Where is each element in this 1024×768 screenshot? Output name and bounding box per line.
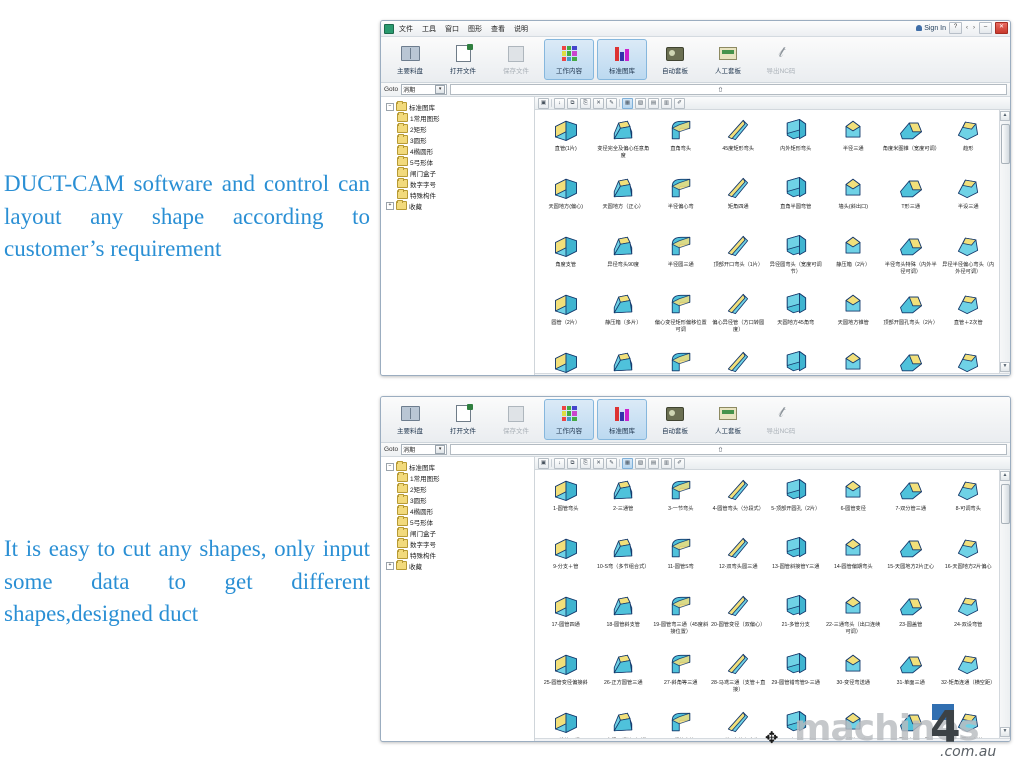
ribbon-button-manual-nest[interactable]: 人工套板 <box>703 39 753 80</box>
folder-icon <box>396 102 407 111</box>
shape-item-label: 31-单面三通 <box>883 680 939 687</box>
shape-library-item[interactable]: 13-圆管斜接管Y三通 <box>767 532 825 590</box>
tree-item[interactable]: 数字字号 <box>384 538 534 549</box>
watermark-domain: .com.au <box>940 744 996 760</box>
shape-library-item[interactable]: 角度米图锥（宽度可调） <box>882 114 940 172</box>
scroll-down-button[interactable]: ▼ <box>1000 362 1010 372</box>
shape-library-item[interactable]: 45度矩形弯头 <box>710 114 768 172</box>
shape-item-label: 顶部开圆孔弯头（2片） <box>883 320 939 327</box>
shape-library-item[interactable]: 静压箱（2片） <box>825 230 883 288</box>
app-logo-icon <box>384 24 394 34</box>
shape-item-label: 内外矩形弯头 <box>768 146 824 153</box>
shape-library-item[interactable]: 9-分支＋管 <box>537 532 595 590</box>
shape-icon-grid-bottom[interactable]: 1-圆管弯头2-三通管3-一节弯头4-圆管弯头（分段式）5-顶部开圆孔（2片）6… <box>535 470 999 738</box>
shape-library-item[interactable]: 24-双设弯管 <box>940 590 998 648</box>
tree-label: 4椭圆形 <box>410 506 433 516</box>
shape-library-item[interactable]: 斜圆方箱 <box>940 346 998 373</box>
save-icon <box>508 45 524 63</box>
duct-shape-icon <box>666 650 696 678</box>
goto-combo[interactable]: 消期 ▾ <box>401 444 447 455</box>
folder-icon <box>397 113 408 122</box>
tree-item[interactable]: 1常用图形 <box>384 112 534 123</box>
panel-icon <box>719 405 737 423</box>
shape-library-item[interactable]: 圆管（2片） <box>537 288 595 346</box>
j-icon: 𝓉 <box>778 45 783 63</box>
ribbon-button-work-content[interactable]: 工作内容 <box>544 399 594 440</box>
shape-library-item[interactable]: 天圆地方45角弯 <box>767 288 825 346</box>
help-circle-icon[interactable]: ? <box>949 22 962 34</box>
shape-library-item[interactable]: 直角半圆弯管 <box>767 172 825 230</box>
close-button[interactable]: ✕ <box>995 22 1008 34</box>
tree-item-favorites[interactable]: + 收藏 <box>384 200 534 211</box>
folder-icon <box>397 528 408 537</box>
duct-shape-icon <box>896 174 926 202</box>
duct-shape-icon <box>608 708 638 736</box>
delete-icon[interactable]: ✕ <box>593 458 604 469</box>
duct-shape-icon <box>896 232 926 260</box>
shape-item-label: 7-双分管三通 <box>883 506 939 513</box>
folder-icon <box>397 135 408 144</box>
mini-toolbar-2: ▣ ↓ ⧉ ⎘ ✕ ✎ ▦ ▧ ▤ ▥ ✐ <box>535 457 1010 470</box>
tree-item[interactable]: 数字字号 <box>384 178 534 189</box>
ribbon-button-save-file[interactable]: 保存文件 <box>491 39 541 80</box>
shape-item-label: 24-双设弯管 <box>940 622 996 629</box>
expander-icon[interactable]: − <box>386 463 394 471</box>
ribbon-button-open-file[interactable]: 打开文件 <box>438 399 488 440</box>
duct-shape-icon <box>608 232 638 260</box>
scrollbar-thumb[interactable] <box>1001 484 1010 524</box>
shape-library-item[interactable]: 22-三通弯头（出口连续可调） <box>825 590 883 648</box>
duct-shape-icon <box>781 232 811 260</box>
tree-item[interactable]: 闸门盒子 <box>384 167 534 178</box>
ribbon-label: 保存文件 <box>503 425 529 435</box>
shape-library-item[interactable]: 34-变径三通管（对称式） <box>595 706 653 738</box>
shape-library-item[interactable]: 26-正方圆管三通 <box>595 648 653 706</box>
shape-library-item[interactable]: 直管(1片) <box>537 114 595 172</box>
grid-wrapper: 直管(1片)变径完全及偏心任意角度直角弯头45度矩形弯头内外矩形弯头半径三通角度… <box>535 110 1010 373</box>
duct-shape-icon <box>838 232 868 260</box>
shape-library-item[interactable]: 31-单面三通 <box>882 648 940 706</box>
shape-item-label: 天圆地方45角弯 <box>768 320 824 327</box>
shape-library-item[interactable]: 半径圆三通 <box>652 230 710 288</box>
shape-library-item[interactable]: 内外矩形弯头 <box>767 114 825 172</box>
shape-library-item[interactable]: 1-圆管弯头 <box>537 474 595 532</box>
shape-library-item[interactable]: 直角弯头 <box>652 114 710 172</box>
tree-label: 3圆形 <box>410 135 427 145</box>
shape-library-item[interactable]: 角度支管 <box>537 230 595 288</box>
shape-library-item[interactable]: 异径圆弯头（宽度可调节） <box>767 230 825 288</box>
shape-library-item[interactable]: 趋形 <box>940 114 998 172</box>
goto-combo-value: 消期 <box>403 445 415 454</box>
tree-label: 5弓形体 <box>410 517 433 527</box>
shape-library-item[interactable]: 17-圆管四通 <box>537 590 595 648</box>
shape-item-label: 天圆地方(偏心) <box>538 204 594 211</box>
duct-shape-icon <box>953 534 983 562</box>
folder-icon <box>397 506 408 515</box>
sign-in-button[interactable]: Sign In <box>916 25 946 32</box>
tree-item[interactable]: 5弓形体 <box>384 516 534 527</box>
ribbon-toolbar-2: 主要料盘 打开文件 保存文件 工作内容 标准图库 自动套板 <box>381 397 1010 443</box>
shape-library-item[interactable]: 天圆地方4片偏心角度调节 <box>595 346 653 373</box>
shape-library-item[interactable]: 18-圆管斜支管 <box>595 590 653 648</box>
duct-shape-icon <box>608 116 638 144</box>
delete-icon[interactable]: ✕ <box>593 98 604 109</box>
shape-library-item[interactable]: 39-圆管封口开孔 <box>882 706 940 738</box>
shape-item-label: 17-圆管四通 <box>538 622 594 629</box>
duct-shape-icon <box>953 708 983 736</box>
copy-icon[interactable]: ⧉ <box>567 458 578 469</box>
shape-library-item[interactable]: 33-锥管三通 <box>537 706 595 738</box>
shape-library-item[interactable]: 3-一节弯头 <box>652 474 710 532</box>
edit-icon[interactable]: ✎ <box>606 98 617 109</box>
tree-label: 标准图库 <box>409 102 435 112</box>
menu-item-window[interactable]: 窗口 <box>445 24 459 34</box>
duct-shape-icon <box>781 290 811 318</box>
separator <box>619 459 620 467</box>
ribbon-button-main-tray[interactable]: 主要料盘 <box>385 39 435 80</box>
shape-library-item[interactable]: 16-天圆地方2片偏心 <box>940 532 998 590</box>
tree-label: 数字字号 <box>410 539 436 549</box>
scroll-up-button[interactable]: ▲ <box>1000 471 1010 481</box>
scroll-up-button[interactable]: ▲ <box>1000 111 1010 121</box>
chevron-left-icon[interactable]: ‹ <box>965 25 969 31</box>
shape-item-label: 19-圆管弯三通（45度斜接位置） <box>653 622 709 635</box>
folder-icon <box>397 539 408 548</box>
shape-library-item[interactable]: 14-圆管偏期弯头 <box>825 532 883 590</box>
import-icon[interactable]: ↓ <box>554 458 565 469</box>
shape-item-label: 趋形 <box>940 146 996 153</box>
shape-item-label: 1-圆管弯头 <box>538 506 594 513</box>
library-tree: − 标准图库 1常用图形 2矩形 3圆形 4椭圆形 5弓形体 闸门盒子 数字字号… <box>381 97 535 376</box>
folder-icon <box>396 462 407 471</box>
duct-shape-icon <box>781 650 811 678</box>
ribbon-toolbar: 主要料盘 打开文件 保存文件 工作内容 标准图库 自动套板 <box>381 37 1010 83</box>
shape-item-label: 20-圆管变径（双偏心） <box>710 622 766 629</box>
duct-shape-icon <box>953 592 983 620</box>
duct-shape-icon <box>781 592 811 620</box>
shape-item-label: 角度支管 <box>538 262 594 269</box>
shape-library-item[interactable]: 28-马鸢三通（支管＋直接） <box>710 648 768 706</box>
duct-shape-icon <box>551 534 581 562</box>
menu-item-graphics[interactable]: 图形 <box>468 24 482 34</box>
duct-shape-icon <box>896 592 926 620</box>
ribbon-label: 保存文件 <box>503 65 529 75</box>
person-icon <box>916 25 922 31</box>
grid-wrapper-2: 1-圆管弯头2-三通管3-一节弯头4-圆管弯头（分段式）5-顶部开圆孔（2片）6… <box>535 470 1010 738</box>
shape-item-label: 12-双弯头圆三通 <box>710 564 766 571</box>
ribbon-button-work-content[interactable]: 工作内容 <box>544 39 594 80</box>
shape-library-item[interactable]: 29-圆管错弯管9-三通 <box>767 648 825 706</box>
duct-shape-icon <box>608 592 638 620</box>
ribbon-button-standard-library[interactable]: 标准图库 <box>597 399 647 440</box>
ribbon-button-auto-nest[interactable]: 自动套板 <box>650 399 700 440</box>
camera-icon <box>666 405 684 423</box>
shape-library-item[interactable]: 5-顶部开圆孔（2片） <box>767 474 825 532</box>
duct-shape-icon <box>781 174 811 202</box>
new-icon[interactable]: ▣ <box>538 98 549 109</box>
shape-library-item[interactable]: 2-三通管 <box>595 474 653 532</box>
tree-item[interactable]: 特殊构件 <box>384 189 534 200</box>
separator <box>551 99 552 107</box>
tree-item[interactable]: 4椭圆形 <box>384 505 534 516</box>
shape-library-item[interactable]: 21-多管分支 <box>767 590 825 648</box>
shape-item-label: 半设三通 <box>940 204 996 211</box>
menu-item-view[interactable]: 查看 <box>491 24 505 34</box>
shape-library-item[interactable]: 37-马鸡（布口） <box>767 706 825 738</box>
shape-library-item[interactable]: 变径完全及偏心任意角度 <box>595 114 653 172</box>
shape-item-label: 21-多管分支 <box>768 622 824 629</box>
duct-shape-icon <box>838 348 868 373</box>
duct-shape-icon <box>723 290 753 318</box>
j-icon: 𝓉 <box>778 405 783 423</box>
shape-library-item[interactable]: 天圆地方锥管 <box>825 288 883 346</box>
shape-item-label: 32-矩角连通（横空距） <box>940 680 996 687</box>
goto-label: Goto <box>384 86 398 93</box>
tree-item[interactable]: 2矩形 <box>384 483 534 494</box>
import-icon[interactable]: ↓ <box>554 98 565 109</box>
shape-item-label: T形三通 <box>883 204 939 211</box>
shape-library-item[interactable]: 25-圆管变径偏接斜 <box>537 648 595 706</box>
copy-icon[interactable]: ⧉ <box>567 98 578 109</box>
address-input[interactable]: ⇧ <box>450 84 1007 95</box>
shape-item-label: 11-圆管S弯 <box>653 564 709 571</box>
shape-item-label: 4-圆管弯头（分段式） <box>710 506 766 513</box>
shape-library-item[interactable]: 天圆地方（正心） <box>595 172 653 230</box>
shape-library-item[interactable]: 15-天圆地方2片正心 <box>882 532 940 590</box>
duct-shape-icon <box>953 290 983 318</box>
vertical-scrollbar-bottom[interactable]: ▲ ▼ <box>999 470 1010 738</box>
shape-library-item[interactable]: 38-螺旋切尖 <box>825 706 883 738</box>
duct-shape-icon <box>953 348 983 373</box>
mini-toolbar: ▣ ↓ ⧉ ⎘ ✕ ✎ ▦ ▧ ▤ ▥ ✐ <box>535 97 1010 110</box>
view-list-icon[interactable]: ▤ <box>648 458 659 469</box>
shape-library-item[interactable]: 墙头(斜出口) <box>825 172 883 230</box>
shape-item-label: 偏心异径管（方口转圆度） <box>710 320 766 333</box>
shape-library-item[interactable]: 异径弯头90度 <box>595 230 653 288</box>
duct-shape-icon <box>608 174 638 202</box>
duct-shape-icon <box>723 476 753 504</box>
shape-library-item[interactable]: 11-圆管S弯 <box>652 532 710 590</box>
shape-library-item[interactable]: 转形三通口可调可调 <box>767 346 825 373</box>
tree-root[interactable]: − 标准图库 <box>384 101 534 112</box>
duct-shape-icon <box>838 290 868 318</box>
expander-icon[interactable]: − <box>386 103 394 111</box>
tree-label: 3圆形 <box>410 495 427 505</box>
shape-library-item[interactable]: 12-双弯头圆三通 <box>710 532 768 590</box>
tree-item[interactable]: 1常用图形 <box>384 472 534 483</box>
shape-library-item[interactable]: 天圆地方(偏心) <box>537 172 595 230</box>
shape-item-label: 异径弯头90度 <box>595 262 651 269</box>
tree-label: 4椭圆形 <box>410 146 433 156</box>
duct-shape-icon <box>838 708 868 736</box>
shape-library-item[interactable]: 6-圆管变径 <box>825 474 883 532</box>
duct-shape-icon <box>723 348 753 373</box>
book-icon <box>401 405 420 423</box>
shape-library-item[interactable]: 直管＋2次管 <box>940 288 998 346</box>
shape-item-label: 23-圆盖管 <box>883 622 939 629</box>
properties-icon[interactable]: ✐ <box>674 98 685 109</box>
shape-library-item[interactable]: 8-可调弯头 <box>940 474 998 532</box>
shape-library-item[interactable]: 30-变径弯送通 <box>825 648 883 706</box>
ribbon-button-save-file[interactable]: 保存文件 <box>491 399 541 440</box>
tree-item[interactable]: 3圆形 <box>384 494 534 505</box>
shape-library-item[interactable]: 偏心变径矩形偏移位置可调 <box>652 288 710 346</box>
shape-library-item[interactable]: 7-双分管三通 <box>882 474 940 532</box>
shape-library-item[interactable]: 23-圆盖管 <box>882 590 940 648</box>
shape-item-label: 13-圆管斜接管Y三通 <box>768 564 824 571</box>
shape-library-item[interactable]: 顶部开圆孔弯头（2片） <box>882 288 940 346</box>
tree-item[interactable]: 闸门盒子 <box>384 527 534 538</box>
ribbon-label: 工作内容 <box>556 425 582 435</box>
shape-library-item[interactable]: 矩角弯还管 <box>882 346 940 373</box>
tree-item-favorites[interactable]: + 收藏 <box>384 560 534 571</box>
shape-library-item[interactable]: 半设三通 <box>940 172 998 230</box>
tree-label: 5弓形体 <box>410 157 433 167</box>
book-icon <box>401 45 420 63</box>
duct-shape-icon <box>608 290 638 318</box>
expander-icon[interactable]: + <box>386 562 394 570</box>
chevron-down-icon[interactable]: ▾ <box>435 85 445 94</box>
ribbon-button-export-nc[interactable]: 𝓉 导出NC码 <box>756 39 806 80</box>
shape-library-item[interactable]: 矩角偏心直管 <box>825 346 883 373</box>
panel-icon <box>719 45 737 63</box>
shape-library-item[interactable]: 偏心异径管（方口转圆度） <box>710 288 768 346</box>
tree-root[interactable]: − 标准图库 <box>384 461 534 472</box>
shape-item-label: 圆管（2片） <box>538 320 594 327</box>
shape-item-label: 偏心变径矩形偏移位置可调 <box>653 320 709 333</box>
folder-icon <box>397 517 408 526</box>
shape-library-item[interactable]: 半径偏心弯 <box>652 172 710 230</box>
ribbon-label: 工作内容 <box>556 65 582 75</box>
view-detail-icon[interactable]: ▥ <box>661 98 672 109</box>
shape-library-item[interactable]: 19-圆管弯三通（45度斜接位置） <box>652 590 710 648</box>
camera-icon <box>666 45 684 63</box>
path-bar-2: Goto 消期 ▾ ⇧ <box>381 443 1010 457</box>
shape-item-label: 10-S弯（多节组合式） <box>595 564 651 571</box>
view-large-icons-icon[interactable]: ▦ <box>622 458 633 469</box>
duct-shape-icon <box>723 708 753 736</box>
shape-library-item[interactable]: 异径半径偏心弯头（内外径可调） <box>940 230 998 288</box>
folder-icon <box>397 484 408 493</box>
shape-library-item[interactable]: 32-矩角连通（横空距） <box>940 648 998 706</box>
tree-item[interactable]: 5弓形体 <box>384 156 534 167</box>
duct-shape-icon <box>551 348 581 373</box>
duct-shape-icon <box>666 534 696 562</box>
edit-icon[interactable]: ✎ <box>606 458 617 469</box>
properties-icon[interactable]: ✐ <box>674 458 685 469</box>
shape-library-item[interactable]: 直管(斜箱) <box>652 346 710 373</box>
view-large-icons-icon[interactable]: ▦ <box>622 98 633 109</box>
goto-label: Goto <box>384 446 398 453</box>
tree-item[interactable]: 3圆形 <box>384 134 534 145</box>
shape-library-item[interactable]: 35-螺旋套管 <box>652 706 710 738</box>
shape-library-item[interactable]: 半径弯头特殊（内外半径可调） <box>882 230 940 288</box>
sign-in-label: Sign In <box>924 25 946 32</box>
view-detail-icon[interactable]: ▥ <box>661 458 672 469</box>
chevron-down-icon[interactable]: ▾ <box>435 445 445 454</box>
folder-icon <box>397 124 408 133</box>
ribbon-button-auto-nest[interactable]: 自动套板 <box>650 39 700 80</box>
ribbon-button-main-tray[interactable]: 主要料盘 <box>385 399 435 440</box>
shape-library-item[interactable]: 半径三通 <box>825 114 883 172</box>
view-list-icon[interactable]: ▤ <box>648 98 659 109</box>
goto-combo-value: 消期 <box>403 85 415 94</box>
duct-shape-icon <box>896 476 926 504</box>
path-bar: Goto 消期 ▾ ⇧ <box>381 83 1010 97</box>
shape-item-label: 8-可调弯头 <box>940 506 996 513</box>
shape-library-item[interactable]: T形三通 <box>882 172 940 230</box>
shape-library-item[interactable]: 静压箱（多片） <box>595 288 653 346</box>
shape-library-item[interactable]: 40-圆管弯送 <box>940 706 998 738</box>
shape-item-label: 2-三通管 <box>595 506 651 513</box>
duct-shape-icon <box>666 476 696 504</box>
menu-item-tools[interactable]: 工具 <box>422 24 436 34</box>
menu-item-help[interactable]: 说明 <box>514 24 528 34</box>
expander-icon[interactable]: + <box>386 202 394 210</box>
shape-library-item[interactable]: 直管＋圆形接口 <box>710 346 768 373</box>
tree-label: 1常用图形 <box>410 113 440 123</box>
tree-label: 特殊构件 <box>410 550 436 560</box>
ribbon-button-open-file[interactable]: 打开文件 <box>438 39 488 80</box>
paste-icon[interactable]: ⎘ <box>580 458 591 469</box>
shape-library-item[interactable]: 20-圆管变径（双偏心） <box>710 590 768 648</box>
shape-library-item[interactable]: 矩角四通 <box>710 172 768 230</box>
folder-icon <box>397 473 408 482</box>
vertical-scrollbar-top[interactable]: ▲ ▼ <box>999 110 1010 373</box>
duct-shape-icon <box>896 708 926 736</box>
address-input[interactable]: ⇧ <box>450 444 1007 455</box>
grid-icon <box>562 405 577 423</box>
duct-shape-icon <box>838 116 868 144</box>
shape-library-item[interactable]: 4-圆管弯头（分段式） <box>710 474 768 532</box>
shape-library-item[interactable]: 顶部开口弯头（1片） <box>710 230 768 288</box>
shape-item-label: 25-圆管变径偏接斜 <box>538 680 594 687</box>
shape-library-item[interactable]: 直管＋单折口 <box>537 346 595 373</box>
chevron-right-icon[interactable]: › <box>972 25 976 31</box>
ribbon-label: 人工套板 <box>715 65 741 75</box>
ribbon-button-manual-nest[interactable]: 人工套板 <box>703 399 753 440</box>
scroll-down-button[interactable]: ▼ <box>1000 727 1010 737</box>
view-small-icons-icon[interactable]: ▧ <box>635 98 646 109</box>
duct-shape-icon <box>723 116 753 144</box>
view-small-icons-icon[interactable]: ▧ <box>635 458 646 469</box>
tree-item[interactable]: 2矩形 <box>384 123 534 134</box>
ribbon-button-export-nc[interactable]: 𝓉 导出NC码 <box>756 399 806 440</box>
shape-library-item[interactable]: 27-斜角等三通 <box>652 648 710 706</box>
ribbon-label: 自动套板 <box>662 65 688 75</box>
scrollbar-thumb[interactable] <box>1001 124 1010 164</box>
folder-icon <box>397 190 408 199</box>
ribbon-button-standard-library[interactable]: 标准图库 <box>597 39 647 80</box>
duct-shape-icon <box>551 116 581 144</box>
shape-icon-grid-top[interactable]: 直管(1片)变径完全及偏心任意角度直角弯头45度矩形弯头内外矩形弯头半径三通角度… <box>535 110 999 373</box>
cursor-icon: ⇧ <box>717 446 723 454</box>
tree-label: 2矩形 <box>410 124 427 134</box>
caption-primary: DUCT-CAM software and control can layout… <box>4 168 370 266</box>
shape-item-label: 异径圆弯头（宽度可调节） <box>768 262 824 275</box>
goto-combo[interactable]: 消期 ▾ <box>401 84 447 95</box>
tree-item[interactable]: 4椭圆形 <box>384 145 534 156</box>
tree-item[interactable]: 特殊构件 <box>384 549 534 560</box>
paste-icon[interactable]: ⎘ <box>580 98 591 109</box>
menu-item-file[interactable]: 文件 <box>399 24 413 34</box>
shape-library-item[interactable]: 36-地4弯偏心弯头 <box>710 706 768 738</box>
minimize-button[interactable]: – <box>979 22 992 34</box>
ribbon-label: 标准图库 <box>609 425 635 435</box>
duct-shape-icon <box>666 232 696 260</box>
shape-library-item[interactable]: 10-S弯（多节组合式） <box>595 532 653 590</box>
new-icon[interactable]: ▣ <box>538 458 549 469</box>
